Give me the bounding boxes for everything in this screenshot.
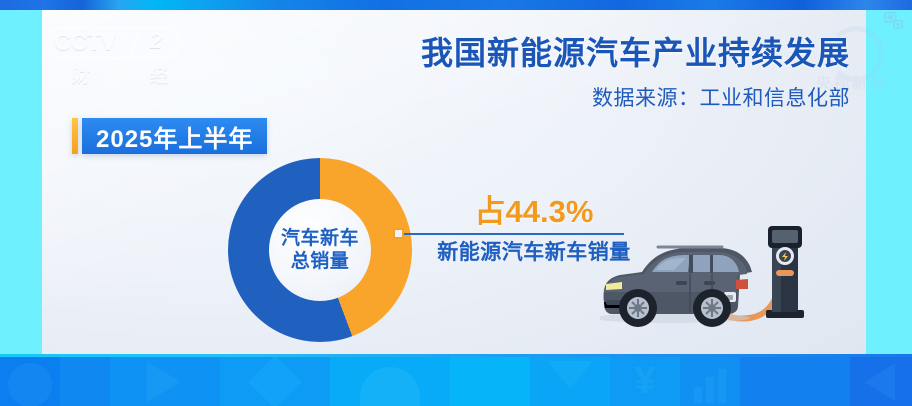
infographic-screenshot: CCTV 2 财 经 央视新闻 我国新能源汽车产业持续发展 数据来源：工业和信息… — [0, 0, 912, 406]
strip-bars-icon — [694, 369, 726, 403]
ev-charging-illustration — [600, 222, 860, 334]
right-cyan-edge — [866, 10, 912, 354]
bottom-decorative-strip: ¥ — [0, 354, 912, 406]
cctv-logo-subtitle: 财 经 — [72, 62, 168, 88]
donut-center: 汽车新车 总销量 — [269, 199, 371, 301]
data-source-text: 数据来源：工业和信息化部 — [330, 82, 850, 112]
cctv-logo-sub-left: 财 — [72, 62, 90, 88]
bottom-strip-cell — [330, 357, 450, 406]
donut-chart: 汽车新车 总销量 — [228, 158, 412, 342]
bottom-strip-cell — [220, 357, 330, 406]
square-marker-icon — [393, 228, 404, 239]
strip-diamond-icon — [248, 357, 302, 406]
strip-chevron-icon — [865, 363, 895, 401]
donut-center-line2: 总销量 — [291, 250, 350, 273]
bottom-strip-cell — [530, 357, 610, 406]
headline-block: 我国新能源汽车产业持续发展 数据来源：工业和信息化部 — [330, 36, 850, 112]
cctv-logo-text: CCTV — [54, 29, 115, 57]
page-title: 我国新能源汽车产业持续发展 — [330, 36, 850, 72]
car-wheel-front — [619, 289, 657, 327]
period-label: 2025年上半年 — [96, 119, 253, 154]
car-wheel-rear — [693, 289, 731, 327]
screen-cast-icon[interactable] — [884, 12, 906, 30]
bottom-strip-cell: ¥ — [610, 357, 680, 406]
bottom-strip-cell — [680, 357, 740, 406]
strip-arc-icon — [360, 367, 420, 406]
strip-triangle-icon — [147, 362, 181, 402]
cctv-logo-pill-row: CCTV 2 — [46, 26, 182, 60]
strip-yen-icon: ¥ — [631, 361, 659, 401]
period-banner: 2025年上半年 — [72, 118, 267, 154]
donut-center-line1: 汽车新车 — [281, 227, 359, 250]
bottom-strip-cell — [850, 357, 912, 406]
electric-suv-icon — [600, 247, 752, 327]
bottom-strip-cell — [60, 357, 110, 406]
bottom-strip-cell — [450, 357, 530, 406]
cctv-logo-number: 2 — [150, 28, 162, 54]
top-broadcast-bar — [0, 0, 912, 10]
period-banner-box: 2025年上半年 — [82, 118, 267, 154]
bottom-strip-cell — [0, 357, 60, 406]
bottom-strip-cell — [740, 357, 850, 406]
strip-circle-icon — [8, 363, 52, 406]
bottom-strip-cell — [110, 357, 220, 406]
left-cyan-edge — [0, 10, 42, 354]
strip-triangle-down-icon — [548, 361, 592, 389]
cctv-channel-logo: CCTV 2 财 经 — [46, 26, 182, 92]
cctv-logo-sub-right: 经 — [150, 62, 168, 88]
